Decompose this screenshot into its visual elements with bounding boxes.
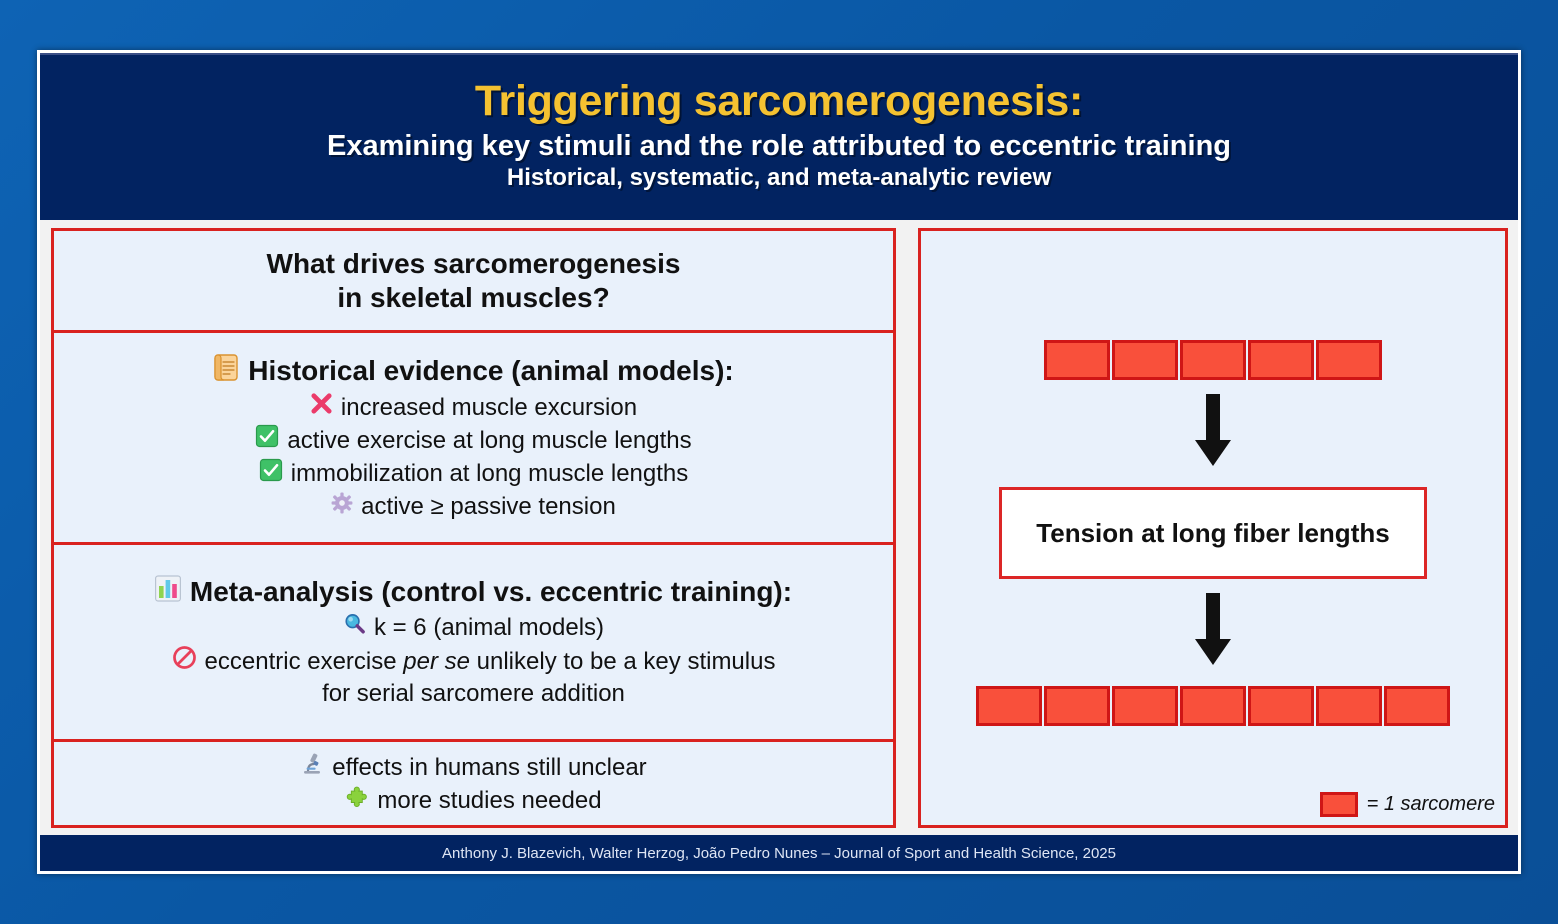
sarcomere-after-0: [976, 686, 1042, 726]
puzzle-piece-icon: [345, 785, 369, 817]
sarcomere-after-6: [1384, 686, 1450, 726]
sarcomere-after-3: [1180, 686, 1246, 726]
section-historical-evidence: Historical evidence (animal models): inc…: [54, 330, 893, 542]
meta-k-label: k = 6 (animal models): [374, 612, 604, 643]
microscope-icon: [300, 751, 324, 783]
graphical-abstract-card: Triggering sarcomerogenesis: Examining k…: [37, 50, 1521, 874]
page-sub-subtitle: Historical, systematic, and meta-analyti…: [507, 165, 1051, 192]
prohibited-icon: [172, 645, 197, 678]
check-box-icon: [255, 424, 279, 456]
section-question: What drives sarcomerogenesis in skeletal…: [54, 231, 893, 330]
question-line-1: What drives sarcomerogenesis: [267, 247, 681, 280]
historical-item-0: increased muscle excursion: [310, 392, 637, 423]
section-outlook: effects in humans still unclear more stu…: [54, 739, 893, 825]
meta-k-row: k = 6 (animal models): [343, 612, 604, 643]
sarcomere-before-1: [1112, 340, 1178, 380]
sarcomere-diagram: Tension at long fiber lengths = 1 sarcom…: [921, 231, 1505, 825]
sarcomere-after-2: [1112, 686, 1178, 726]
check-box-icon: [259, 458, 283, 490]
historical-item-3: active ≥ passive tension: [331, 491, 616, 522]
gear-icon: [331, 491, 353, 522]
sarcomere-after-5: [1316, 686, 1382, 726]
outlook-item-0: effects in humans still unclear: [300, 751, 646, 783]
meta-finding-italic: per se: [403, 648, 470, 675]
magnifier-icon: [343, 612, 366, 643]
outlook-item-0-label: effects in humans still unclear: [332, 752, 646, 783]
historical-item-1-label: active exercise at long muscle lengths: [287, 425, 691, 456]
arrow-down-icon-1: [1187, 392, 1239, 475]
historical-item-0-label: increased muscle excursion: [341, 392, 637, 423]
meta-heading-row: Meta-analysis (control vs. eccentric tra…: [155, 575, 792, 609]
sarcomere-before-2: [1180, 340, 1246, 380]
header-band: Triggering sarcomerogenesis: Examining k…: [40, 53, 1518, 220]
meta-finding-row: eccentric exercise per se unlikely to be…: [172, 645, 776, 678]
page-subtitle: Examining key stimuli and the role attri…: [327, 130, 1231, 162]
cross-mark-icon: [310, 392, 333, 423]
section-meta-analysis: Meta-analysis (control vs. eccentric tra…: [54, 542, 893, 739]
sarcomere-after-1: [1044, 686, 1110, 726]
meta-finding-pre: eccentric exercise: [205, 648, 404, 675]
meta-finding-label: eccentric exercise per se unlikely to be…: [205, 646, 776, 677]
legend-swatch-sarcomere: [1320, 792, 1358, 817]
historical-heading-label: Historical evidence (animal models):: [248, 355, 734, 387]
historical-heading-row: Historical evidence (animal models):: [213, 353, 734, 389]
meta-heading-label: Meta-analysis (control vs. eccentric tra…: [190, 576, 792, 608]
arrow-down-icon-2: [1187, 591, 1239, 674]
right-panel: Tension at long fiber lengths = 1 sarcom…: [918, 228, 1508, 828]
sarcomere-row-before: [1044, 340, 1382, 380]
legend-label: = 1 sarcomere: [1367, 793, 1495, 816]
sarcomere-row-after: [976, 686, 1450, 726]
bar-chart-icon: [155, 575, 181, 609]
historical-item-1: active exercise at long muscle lengths: [255, 424, 691, 456]
sarcomere-before-4: [1316, 340, 1382, 380]
sarcomere-before-3: [1248, 340, 1314, 380]
question-line-2: in skeletal muscles?: [337, 281, 609, 314]
outlook-item-1: more studies needed: [345, 785, 601, 817]
page-title: Triggering sarcomerogenesis:: [475, 79, 1083, 125]
footer-band: Anthony J. Blazevich, Walter Herzog, Joã…: [40, 835, 1518, 871]
historical-item-2: immobilization at long muscle lengths: [259, 458, 689, 490]
tension-box: Tension at long fiber lengths: [999, 487, 1427, 579]
historical-item-3-label: active ≥ passive tension: [361, 491, 616, 522]
left-panel: What drives sarcomerogenesis in skeletal…: [51, 228, 896, 828]
sarcomere-before-0: [1044, 340, 1110, 380]
legend: = 1 sarcomere: [1320, 792, 1495, 817]
tension-box-label: Tension at long fiber lengths: [1036, 518, 1389, 549]
footer-citation: Anthony J. Blazevich, Walter Herzog, Joã…: [442, 845, 1116, 862]
body-area: What drives sarcomerogenesis in skeletal…: [40, 220, 1518, 835]
meta-finding-line-2: for serial sarcomere addition: [322, 678, 625, 709]
sarcomere-after-4: [1248, 686, 1314, 726]
historical-item-2-label: immobilization at long muscle lengths: [291, 458, 689, 489]
scroll-icon: [213, 353, 239, 389]
meta-finding-post: unlikely to be a key stimulus: [470, 648, 775, 675]
outlook-item-1-label: more studies needed: [377, 785, 601, 816]
